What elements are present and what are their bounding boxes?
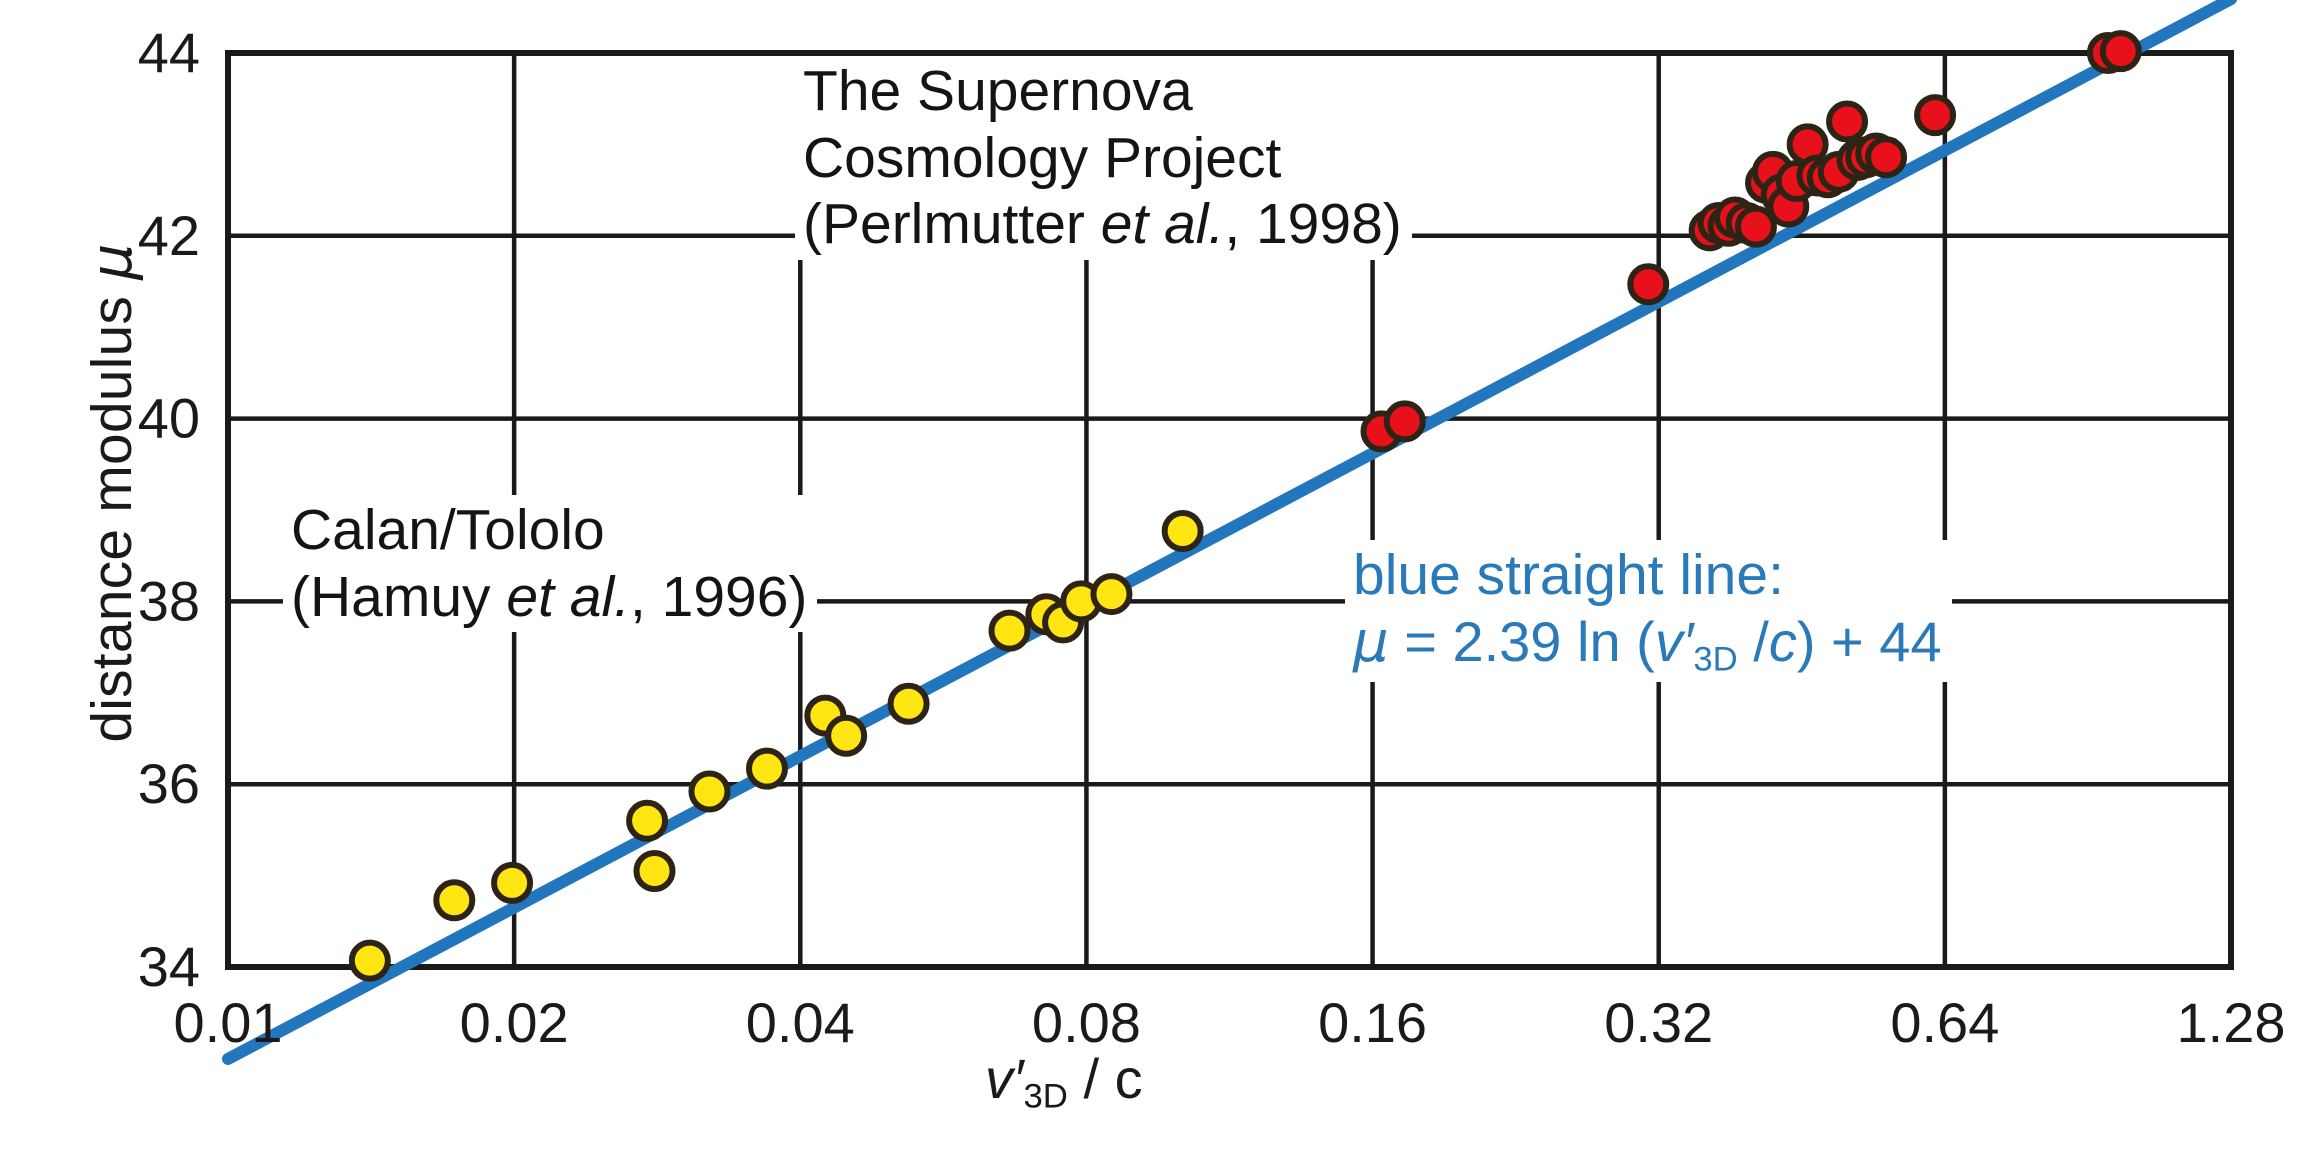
data-point-scp — [1868, 139, 1904, 175]
y-tick-label: 36 — [138, 752, 200, 815]
data-point-calan-tololo — [749, 751, 785, 787]
annotation-scp-line3-post: , 1998) — [1224, 192, 1401, 256]
data-point-calan-tololo — [494, 865, 530, 901]
annotation-supernova-cosmology-project: The Supernova Cosmology Project (Perlmut… — [795, 56, 1412, 260]
x-axis-title-prime: ′ — [1013, 1047, 1024, 1110]
data-point-calan-tololo — [436, 882, 472, 918]
x-tick-label: 1.28 — [2177, 991, 2286, 1054]
annotation-ct-line2-post: , 1996) — [630, 565, 807, 629]
x-tick-label: 0.16 — [1318, 991, 1427, 1054]
figure-container: 3436384042440.010.020.040.080.160.320.64… — [0, 0, 2299, 1170]
data-point-scp — [1738, 209, 1774, 245]
annotation-eq-prime: ′ — [1683, 610, 1694, 673]
y-tick-label: 34 — [138, 935, 200, 998]
data-point-scp — [1829, 104, 1865, 140]
data-point-calan-tololo — [1165, 513, 1201, 549]
annotation-eq-tail: ) + 44 — [1797, 610, 1942, 673]
data-point-calan-tololo — [629, 803, 665, 839]
data-point-calan-tololo — [691, 774, 727, 810]
annotation-scp-line1: The Supernova — [803, 58, 1402, 125]
annotation-scp-line3-pre: (Perlmutter — [803, 192, 1101, 256]
annotation-eq-v: v — [1655, 610, 1683, 673]
annotation-eq-c: c — [1769, 610, 1797, 673]
x-tick-label: 0.02 — [460, 991, 569, 1054]
x-tick-label: 0.04 — [746, 991, 855, 1054]
y-tick-label: 38 — [138, 569, 200, 632]
annotation-eq-sub: 3D — [1693, 640, 1737, 678]
x-axis-title-v: v — [985, 1047, 1013, 1110]
data-point-calan-tololo — [637, 853, 673, 889]
x-tick-label: 0.64 — [1890, 991, 1999, 1054]
annotation-ct-line1: Calan/Tololo — [291, 497, 807, 564]
x-axis-title: v′3D / c — [985, 1046, 1143, 1117]
annotation-eq-line2: μ = 2.39 ln (v′3D /c) + 44 — [1353, 609, 1942, 680]
annotation-scp-line2: Cosmology Project — [803, 125, 1402, 192]
data-point-calan-tololo — [352, 943, 388, 979]
x-axis-title-tail: / c — [1068, 1047, 1143, 1110]
data-point-scp — [2103, 33, 2139, 69]
annotation-eq-line1: blue straight line: — [1353, 542, 1942, 609]
data-point-scp — [1630, 266, 1666, 302]
annotation-eq-mu: μ — [1353, 610, 1389, 675]
data-point-calan-tololo — [891, 686, 927, 722]
annotation-ct-etal: et al. — [506, 565, 630, 629]
data-point-calan-tololo — [828, 718, 864, 754]
x-tick-label: 0.01 — [174, 991, 283, 1054]
y-tick-label: 42 — [138, 204, 200, 267]
x-tick-label: 0.08 — [1032, 991, 1141, 1054]
data-point-calan-tololo — [1093, 576, 1129, 612]
data-point-scp — [1917, 97, 1953, 133]
annotation-scp-line3: (Perlmutter et al., 1998) — [803, 191, 1402, 258]
x-tick-label: 0.32 — [1604, 991, 1713, 1054]
annotation-eq-a: = 2.39 ln ( — [1389, 610, 1655, 673]
annotation-ct-line2: (Hamuy et al., 1996) — [291, 564, 807, 631]
data-point-calan-tololo — [992, 613, 1028, 649]
data-point-scp — [1387, 403, 1423, 439]
annotation-eq-b: / — [1738, 610, 1769, 673]
y-tick-label: 44 — [138, 21, 200, 84]
annotation-fit-equation: blue straight line: μ = 2.39 ln (v′3D /c… — [1345, 540, 1952, 682]
annotation-calan-tololo: Calan/Tololo (Hamuy et al., 1996) — [283, 495, 817, 632]
x-axis-title-subscript: 3D — [1024, 1078, 1068, 1116]
annotation-scp-etal: et al. — [1101, 192, 1225, 256]
annotation-ct-line2-pre: (Hamuy — [291, 565, 506, 629]
y-tick-label: 40 — [138, 387, 200, 450]
